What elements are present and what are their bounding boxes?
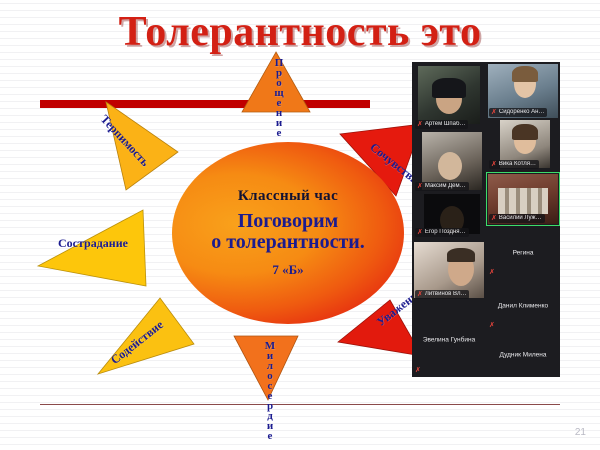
video-tile-egor[interactable]: ✗ Егор Поздня…	[412, 194, 486, 240]
video-tile-litvinov[interactable]: ✗ Литвинов Вл…	[412, 240, 486, 302]
participant-name: Эвелина Гунбина	[412, 336, 486, 343]
mic-muted-icon: ✗	[489, 269, 495, 276]
ellipse-class-label: 7 «Б»	[272, 262, 303, 278]
bottom-divider-line	[40, 404, 560, 405]
video-grid-left-column: ✗ Артем Шпаб… ✗ Максим Дем… ✗	[412, 62, 486, 377]
participant-name-badge: ✗ Вика Котля…	[489, 160, 539, 169]
participant-name: Вика Котля…	[499, 161, 536, 168]
mic-muted-icon: ✗	[417, 229, 423, 236]
mic-muted-icon: ✗	[491, 109, 497, 116]
participant-name: Максим Дем…	[425, 183, 466, 190]
participant-name: Литвинов Вл…	[425, 291, 467, 298]
page-title: Толерантность это	[0, 8, 600, 56]
video-tile-evelina[interactable]: Эвелина Гунбина ✗	[412, 302, 486, 377]
mic-muted-icon: ✗	[491, 215, 497, 222]
ellipse-main-line-1: Поговорим	[238, 211, 339, 232]
central-ellipse: Классный час Поговорим о толерантности. …	[172, 142, 404, 324]
mic-muted-icon: ✗	[417, 121, 423, 128]
video-tile-artem[interactable]: ✗ Артем Шпаб…	[412, 62, 486, 132]
participant-name-badge: ✗ Литвинов Вл…	[415, 290, 469, 299]
ray-label-sostradanie: Сострадание	[58, 236, 128, 251]
participant-name-badge: ✗ Артем Шпаб…	[415, 120, 468, 129]
participant-name-badge: ✗ Максим Дем…	[415, 182, 469, 191]
ellipse-main-line-2: о толерантности.	[211, 232, 365, 253]
participant-name: Артем Шпаб…	[425, 121, 466, 128]
mic-muted-icon: ✗	[417, 291, 423, 298]
ellipse-subtitle: Классный час	[238, 188, 338, 205]
video-grid-right-column: ✗ Сидоренко Ан… ✗ Вика Котля…	[486, 62, 560, 377]
mic-muted-icon: ✗	[489, 322, 495, 329]
video-tile-dudnik[interactable]: Дудник Милена	[486, 332, 560, 377]
video-tile-danil[interactable]: Данил Клименко ✗	[486, 279, 560, 332]
presentation-slide: Толерантность это Прощение Терпимость Со…	[0, 0, 600, 450]
participant-name: Сидоренко Ан…	[499, 109, 545, 116]
video-tile-regina[interactable]: Регина ✗	[486, 226, 560, 279]
mic-muted-icon: ✗	[491, 161, 497, 168]
video-tile-vika[interactable]: ✗ Вика Котля…	[486, 120, 560, 172]
video-tile-maksim[interactable]: ✗ Максим Дем…	[412, 132, 486, 194]
participant-name: Дудник Милена	[486, 351, 560, 358]
participant-name: Василий Луж…	[499, 215, 542, 222]
video-feed	[418, 66, 480, 124]
slide-page-number: 21	[575, 427, 586, 438]
participant-name: Регина	[486, 249, 560, 256]
video-tile-vasiliy[interactable]: ✗ Василий Луж…	[486, 172, 560, 226]
participant-name: Данил Клименко	[486, 302, 560, 309]
participant-name-badge: ✗ Егор Поздня…	[415, 228, 469, 237]
video-conference-panel[interactable]: ✗ Артем Шпаб… ✗ Максим Дем… ✗	[412, 62, 560, 377]
participant-name-badge: ✗ Василий Луж…	[489, 214, 545, 223]
mic-muted-icon: ✗	[417, 183, 423, 190]
mic-muted-icon: ✗	[415, 367, 421, 374]
ray-label-miloserdie: Милосердие	[264, 340, 276, 440]
video-tile-sidorenko[interactable]: ✗ Сидоренко Ан…	[486, 62, 560, 120]
participant-name: Егор Поздня…	[425, 229, 466, 236]
ray-label-proshchenie: Прощение	[273, 57, 285, 137]
participant-name-badge: ✗ Сидоренко Ан…	[489, 108, 547, 117]
